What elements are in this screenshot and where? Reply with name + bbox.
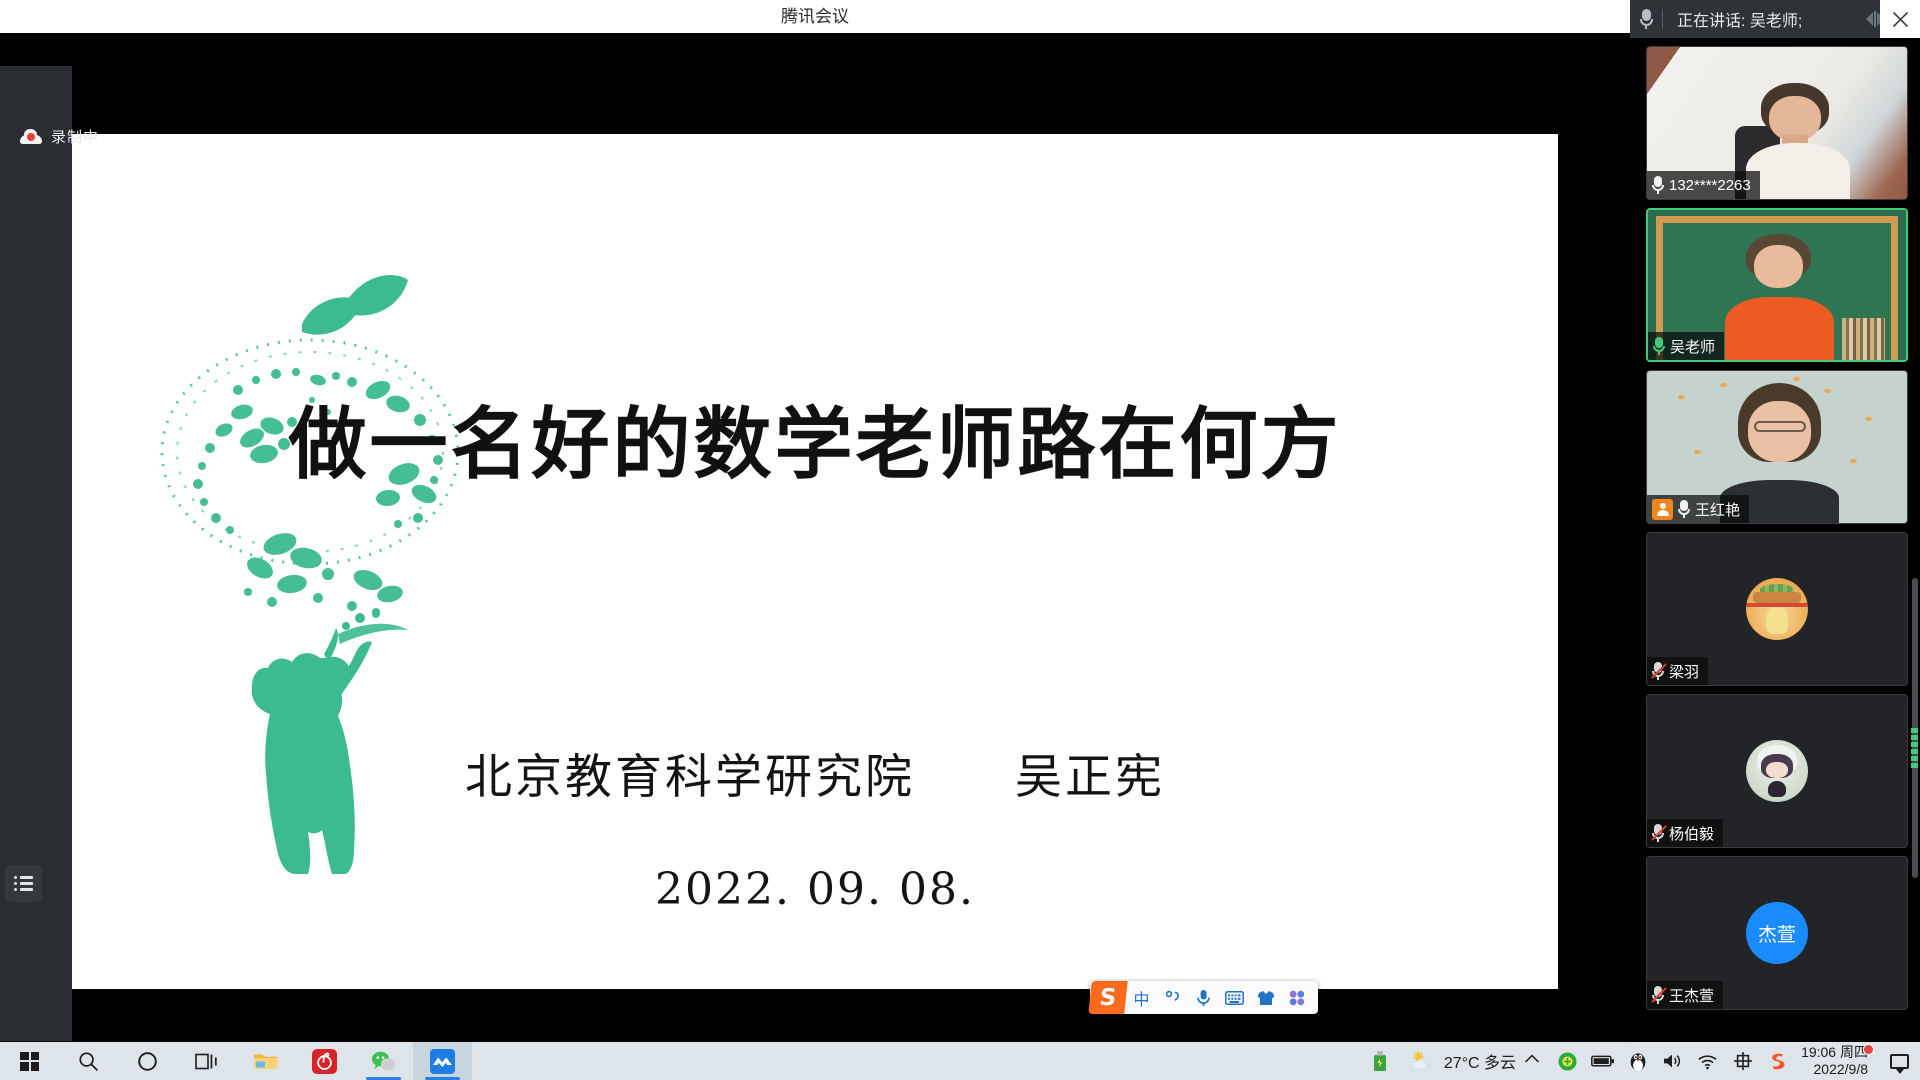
participant-name: 王红艳 <box>1695 499 1740 520</box>
speaking-now-label: 正在讲话: 吴老师; <box>1663 7 1860 31</box>
weather-text: 27°C 多云 <box>1444 1049 1516 1073</box>
audio-level-meter <box>1911 728 1918 788</box>
weather-widget[interactable]: 27°C 多云 <box>1398 1042 1550 1080</box>
participant-name: 132****2263 <box>1669 177 1751 194</box>
task-view-icon[interactable] <box>177 1042 236 1080</box>
participant-name: 杨伯毅 <box>1669 823 1714 844</box>
sogou-ime-logo-icon[interactable]: S <box>1088 981 1127 1014</box>
sun-cloud-icon <box>1408 1048 1436 1075</box>
punctuation-toggle-icon[interactable] <box>1157 981 1188 1014</box>
system-tray: 27°C 多云 <box>1363 1042 1920 1080</box>
qq-penguin-icon[interactable] <box>1620 1042 1655 1080</box>
participant-name-chip: 王杰萱 <box>1647 981 1723 1009</box>
mic-on-icon <box>1653 337 1665 355</box>
participant-tile-list[interactable]: 132****2263 吴老师 <box>1630 38 1920 1042</box>
clock-time: 19:06 周四 <box>1801 1044 1868 1062</box>
battery-icon[interactable] <box>1585 1042 1620 1080</box>
cloud-record-icon <box>20 129 42 144</box>
ime-chinese-icon[interactable] <box>1725 1042 1760 1080</box>
mic-on-icon <box>1652 176 1664 194</box>
recording-label: 录制中 <box>51 126 99 147</box>
security-shield-icon[interactable] <box>1550 1042 1585 1080</box>
mic-muted-icon <box>1652 662 1664 680</box>
notification-icon[interactable] <box>1878 1042 1920 1080</box>
slide-title: 做一名好的数学老师路在何方 <box>72 382 1558 494</box>
participant-tile[interactable]: 王红艳 <box>1646 370 1908 524</box>
list-menu-icon[interactable] <box>5 865 42 902</box>
clock-date: 2022/9/8 <box>1814 1061 1869 1079</box>
shared-screen-stage: 录制中 <box>0 33 1630 1042</box>
mic-icon <box>1630 0 1662 38</box>
presentation-slide: 做一名好的数学老师路在何方 北京教育科学研究院 吴正宪 2022. 09. 08… <box>72 134 1558 989</box>
participant-tile[interactable]: 梁羽 <box>1646 532 1908 686</box>
participant-tile[interactable]: 杨伯毅 <box>1646 694 1908 848</box>
host-badge-icon <box>1652 499 1673 520</box>
voice-input-icon[interactable] <box>1188 981 1219 1014</box>
slide-subtitle: 北京教育科学研究院 吴正宪 <box>72 738 1558 807</box>
clock-alert-badge <box>1863 1044 1874 1055</box>
close-icon[interactable] <box>1880 0 1920 38</box>
sogou-ime-toolbar[interactable]: S 中 <box>1090 981 1318 1014</box>
participant-name: 王杰萱 <box>1669 985 1714 1006</box>
participant-panel: 正在讲话: 吴老师; <box>1630 0 1920 1042</box>
food-avatar <box>1746 578 1808 640</box>
volume-icon[interactable] <box>1655 1042 1690 1080</box>
participant-name-chip: 王红艳 <box>1647 495 1749 523</box>
mic-muted-icon <box>1652 986 1664 1004</box>
participant-tile[interactable]: 吴老师 <box>1646 208 1908 362</box>
windows-start-icon[interactable] <box>0 1042 59 1080</box>
wifi-icon[interactable] <box>1690 1042 1725 1080</box>
windows-taskbar: 27°C 多云 <box>0 1042 1920 1080</box>
soft-keyboard-icon[interactable] <box>1219 981 1250 1014</box>
wechat-icon[interactable] <box>354 1042 413 1080</box>
anime-avatar <box>1746 740 1808 802</box>
toolbox-grid-icon[interactable] <box>1281 981 1312 1014</box>
window-title: 腾讯会议 <box>0 0 1630 33</box>
chevron-up-icon[interactable] <box>1524 1052 1540 1070</box>
participant-tile[interactable]: 132****2263 <box>1646 46 1908 200</box>
mic-on-icon <box>1678 500 1690 518</box>
participant-name: 梁羽 <box>1669 661 1699 682</box>
file-explorer-icon[interactable] <box>236 1042 295 1080</box>
slide-date: 2022. 09. 08. <box>72 864 1558 915</box>
chinese-mode-icon[interactable]: 中 <box>1126 981 1157 1014</box>
netease-music-icon[interactable] <box>295 1042 354 1080</box>
participant-name-chip: 132****2263 <box>1647 171 1760 199</box>
mic-muted-icon <box>1652 824 1664 842</box>
participant-tile[interactable]: 杰萱 王杰萱 <box>1646 856 1908 1010</box>
recording-indicator: 录制中 <box>20 126 99 147</box>
usb-drive-icon[interactable] <box>1363 1042 1398 1080</box>
participant-name-chip: 梁羽 <box>1647 657 1708 685</box>
participant-name-chip: 吴老师 <box>1648 332 1724 360</box>
cortana-icon[interactable] <box>118 1042 177 1080</box>
sogou-ime-icon[interactable] <box>1760 1042 1795 1080</box>
initials-avatar: 杰萱 <box>1746 902 1808 964</box>
search-icon[interactable] <box>59 1042 118 1080</box>
speaking-now-bar: 正在讲话: 吴老师; <box>1630 0 1920 38</box>
participant-name: 吴老师 <box>1670 336 1715 357</box>
tencent-meeting-icon[interactable] <box>413 1042 472 1080</box>
skin-shirt-icon[interactable] <box>1250 981 1281 1014</box>
participant-name-chip: 杨伯毅 <box>1647 819 1723 847</box>
taskbar-clock[interactable]: 19:06 周四 2022/9/8 <box>1795 1042 1878 1080</box>
